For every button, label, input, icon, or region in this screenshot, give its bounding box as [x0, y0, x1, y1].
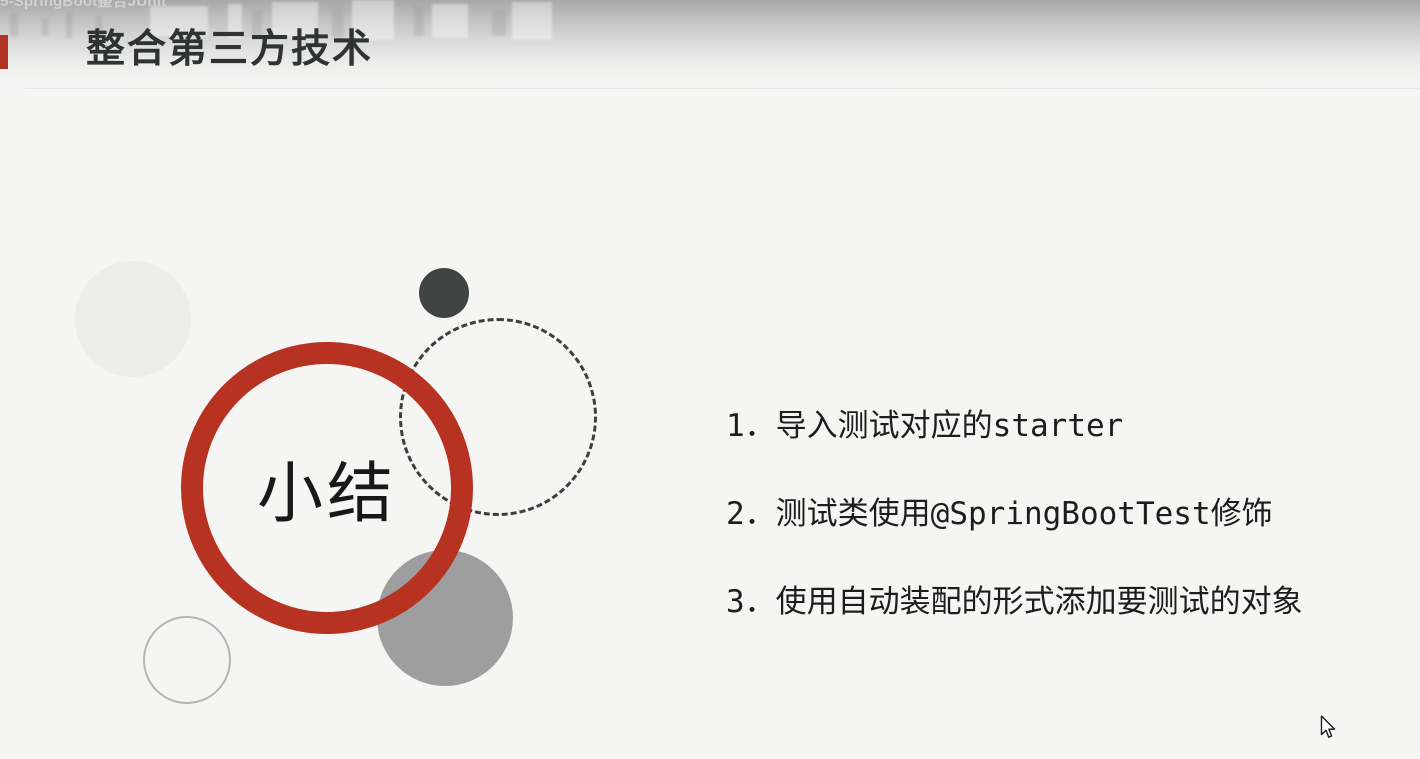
- summary-ring-label: 小结: [181, 342, 473, 634]
- summary-list-item: 1．导入测试对应的starter: [726, 407, 1386, 445]
- slide-header: 整合第三方技术: [0, 0, 1420, 90]
- header-ghost-smear: [66, 12, 72, 38]
- slide-body: 小结 1．导入测试对应的starter 2．测试类使用@SpringBootTe…: [0, 90, 1420, 759]
- header-ghost-smear: [432, 4, 468, 38]
- header-ghost-smear: [10, 14, 18, 36]
- header-ghost-smear: [512, 2, 552, 40]
- summary-list: 1．导入测试对应的starter 2．测试类使用@SpringBootTest修…: [726, 407, 1386, 621]
- decorative-pale-circle: [75, 261, 191, 377]
- header-accent-bar: [0, 35, 8, 69]
- decorative-dark-dot: [419, 268, 469, 318]
- page-title: 整合第三方技术: [86, 22, 373, 77]
- summary-list-item: 2．测试类使用@SpringBootTest修饰: [726, 495, 1386, 533]
- header-divider: [25, 88, 1420, 89]
- summary-list-item: 3．使用自动装配的形式添加要测试的对象: [726, 583, 1386, 621]
- header-ghost-smear: [492, 10, 506, 36]
- header-ghost-smear: [414, 6, 424, 36]
- header-ghost-smear: [42, 18, 48, 36]
